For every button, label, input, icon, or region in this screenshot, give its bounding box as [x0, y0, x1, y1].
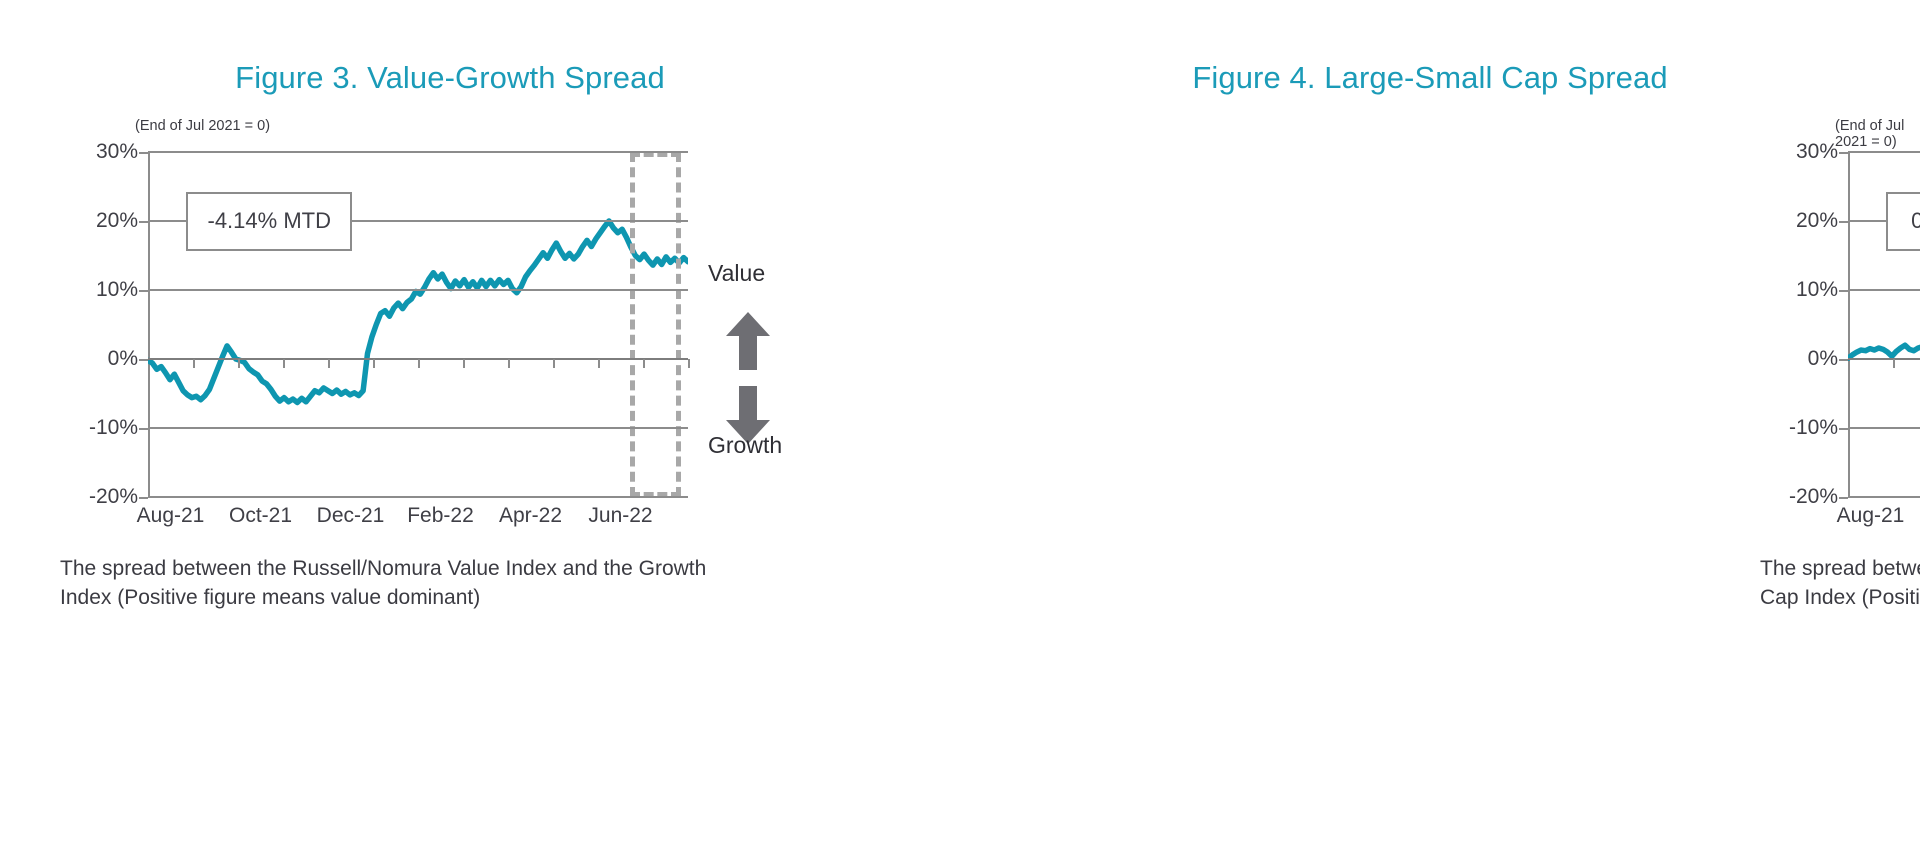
page-title-figure-4: Figure 4. Large-Small Cap Spread — [980, 60, 1880, 96]
y-axis-tick-label: 30% — [96, 140, 138, 164]
y-axis-tick-label: 10% — [96, 278, 138, 302]
arrow-up-icon — [724, 310, 772, 372]
y-axis-tick-label: -20% — [89, 485, 138, 509]
x-tickmark — [553, 359, 555, 368]
y-axis-tick-label: 10% — [1796, 278, 1838, 302]
x-tickmark — [238, 359, 240, 368]
y-axis-tick-label: 0% — [108, 347, 138, 371]
x-tickmark — [328, 359, 330, 368]
gridline — [1848, 151, 1920, 153]
y-tickmark — [139, 152, 148, 154]
x-tickmark — [688, 359, 690, 368]
y-tickmark — [139, 428, 148, 430]
mtd-callout-figure-3: -4.14% MTD — [186, 192, 352, 251]
y-tickmark — [139, 290, 148, 292]
y-tickmark — [1839, 428, 1848, 430]
y-tickmark — [139, 221, 148, 223]
x-axis-tick-label: Aug-21 — [1837, 504, 1905, 528]
x-axis-tick-label: Apr-22 — [499, 504, 562, 528]
gridline — [1848, 358, 1920, 360]
x-axis-tick-label: Aug-21 — [137, 504, 205, 528]
y-tickmark — [1839, 152, 1848, 154]
axis-note-figure-4: (End of Jul 2021 = 0) — [1835, 118, 1920, 150]
x-tickmark — [373, 359, 375, 368]
figure-panel-value-growth: Figure 3. Value-Growth Spread (End of Ju… — [0, 0, 960, 841]
y-axis-tick-label: 30% — [1796, 140, 1838, 164]
annotation-label-growth: Growth — [708, 432, 782, 459]
gridline — [1848, 289, 1920, 291]
caption-figure-3: The spread between the Russell/Nomura Va… — [60, 555, 750, 613]
y-axis-tick-label: 0% — [1808, 347, 1838, 371]
y-axis-tick-label: -10% — [1789, 416, 1838, 440]
x-tickmark — [508, 359, 510, 368]
y-tickmark — [1839, 359, 1848, 361]
x-axis-tick-label: Jun-22 — [588, 504, 652, 528]
figure-panel-large-small: Figure 4. Large-Small Cap Spread (End of… — [960, 0, 1920, 841]
gridline — [148, 151, 688, 153]
annotation-label-value: Value — [708, 260, 765, 287]
y-axis-tick-label: -10% — [89, 416, 138, 440]
x-tickmark — [193, 359, 195, 368]
y-tickmark — [139, 497, 148, 499]
y-tickmark — [139, 359, 148, 361]
highlight-band-dashed — [630, 152, 682, 497]
y-tickmark — [1839, 221, 1848, 223]
gridline — [1848, 427, 1920, 429]
y-tickmark — [1839, 290, 1848, 292]
x-tickmark — [283, 359, 285, 368]
x-axis-tick-label: Feb-22 — [407, 504, 474, 528]
caption-figure-4: The spread between the Russell/Nomura La… — [1760, 555, 1920, 613]
series-line — [1848, 302, 1920, 358]
axis-note-figure-3: (End of Jul 2021 = 0) — [135, 118, 270, 134]
page-title-figure-3: Figure 3. Value-Growth Spread — [0, 60, 900, 96]
x-axis-tick-label: Oct-21 — [229, 504, 292, 528]
y-axis-tick-label: 20% — [96, 209, 138, 233]
mtd-callout-figure-4: 0.43% MTD — [1886, 192, 1920, 251]
gridline — [1848, 496, 1920, 498]
y-axis-tick-label: -20% — [1789, 485, 1838, 509]
x-tickmark — [643, 359, 645, 368]
x-tickmark — [598, 359, 600, 368]
gridline — [148, 427, 688, 429]
gridline — [148, 496, 688, 498]
x-tickmark — [463, 359, 465, 368]
y-axis-tick-label: 20% — [1796, 209, 1838, 233]
y-tickmark — [1839, 497, 1848, 499]
figure-page: Figure 3. Value-Growth Spread (End of Ju… — [0, 0, 1920, 841]
x-tickmark — [1893, 359, 1895, 368]
x-tickmark — [418, 359, 420, 368]
direction-annotation-figure-3: Value Growth — [700, 152, 870, 497]
x-axis-tick-label: Dec-21 — [317, 504, 385, 528]
gridline — [148, 289, 688, 291]
